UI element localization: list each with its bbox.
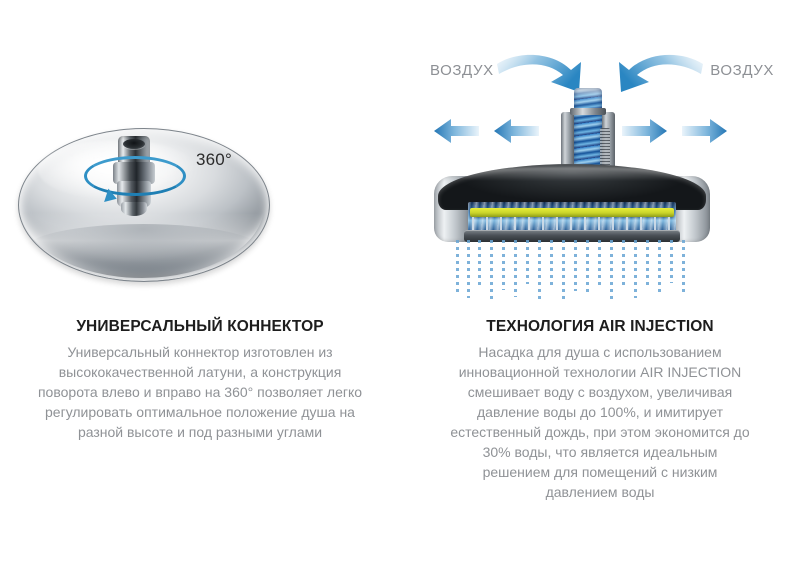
- right-feature-column: ВОЗДУХ ВОЗДУХ: [400, 0, 800, 564]
- shower-head-cutaway: [438, 164, 706, 242]
- water-jet: [658, 240, 661, 295]
- head-top-highlight: [450, 167, 694, 183]
- water-jet: [598, 240, 601, 285]
- water-jet: [634, 240, 637, 298]
- water-jet: [467, 240, 470, 298]
- water-jet: [682, 240, 685, 293]
- left-heading: УНИВЕРСАЛЬНЫЙ КОННЕКТОР: [0, 318, 400, 336]
- water-jet: [562, 240, 565, 301]
- nozzle-collar: [570, 108, 606, 115]
- water-jet: [514, 240, 517, 297]
- water-jet: [622, 240, 625, 289]
- water-jet: [478, 240, 481, 286]
- rotation-degree-label: 360°: [196, 150, 232, 170]
- right-heading: ТЕХНОЛОГИЯ AIR INJECTION: [400, 318, 800, 336]
- water-jet: [538, 240, 541, 299]
- shower-disc-graphic: 360°: [18, 128, 268, 284]
- water-jet: [646, 240, 649, 287]
- curved-air-intake-arrow-right-icon: [605, 48, 705, 100]
- water-jet: [670, 240, 673, 283]
- left-body-text: Универсальный коннектор изготовлен из вы…: [35, 342, 365, 442]
- right-body-text: Насадка для душа с использованием иннова…: [450, 342, 750, 502]
- left-air-flow-arrow-icon-2: [493, 118, 539, 144]
- left-air-flow-arrow-icon-1: [433, 118, 479, 144]
- water-spray: [452, 240, 692, 302]
- air-injection-figure: ВОЗДУХ ВОЗДУХ: [400, 40, 800, 305]
- left-feature-column: 360° УНИВЕРСАЛЬНЫЙ КОННЕКТОР Универсальн…: [0, 0, 400, 564]
- water-jet: [502, 240, 505, 290]
- water-jet: [610, 240, 613, 300]
- right-text-block: ТЕХНОЛОГИЯ AIR INJECTION Насадка для душ…: [400, 318, 800, 502]
- connector-base: [121, 202, 147, 216]
- air-label-left: ВОЗДУХ: [430, 62, 494, 79]
- water-inlet-nozzle: [560, 88, 616, 174]
- infographic-page: 360° УНИВЕРСАЛЬНЫЙ КОННЕКТОР Универсальн…: [0, 0, 800, 564]
- air-label-right: ВОЗДУХ: [710, 62, 774, 79]
- water-jet: [456, 240, 459, 292]
- water-jet: [550, 240, 553, 288]
- water-jet: [586, 240, 589, 296]
- universal-connector-figure: 360°: [0, 110, 400, 300]
- swirling-water-column: [574, 88, 602, 174]
- disc-shadow: [24, 224, 262, 276]
- right-air-flow-arrow-icon-2: [682, 118, 728, 144]
- water-jet: [526, 240, 529, 284]
- filter-layer: [470, 208, 674, 217]
- water-jet: [574, 240, 577, 291]
- connector-inlet-hole: [123, 139, 145, 149]
- right-air-flow-arrow-icon-1: [622, 118, 668, 144]
- rotation-ring-icon: [84, 156, 186, 196]
- left-text-block: УНИВЕРСАЛЬНЫЙ КОННЕКТОР Универсальный ко…: [0, 318, 400, 442]
- water-jet: [490, 240, 493, 300]
- nozzle-thread: [600, 128, 610, 168]
